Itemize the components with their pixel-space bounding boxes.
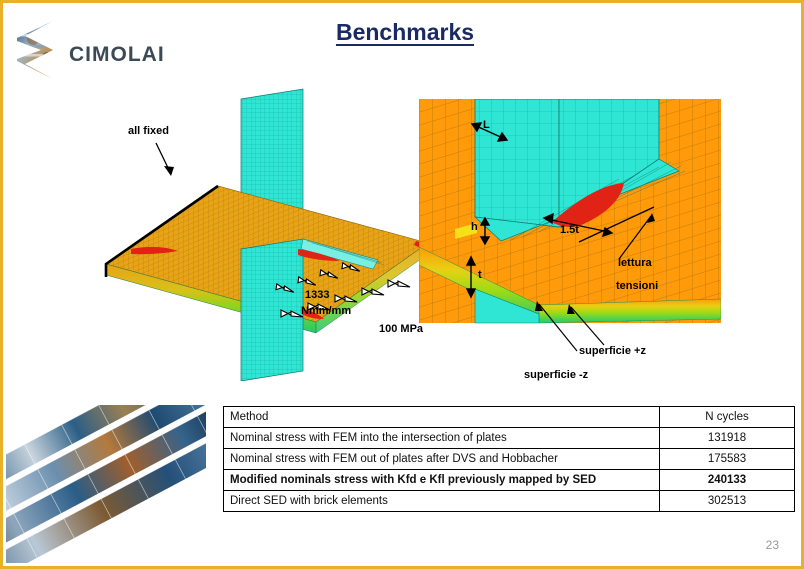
cell-method: Nominal stress with FEM out of plates af…: [224, 449, 660, 470]
label-moment-value: 1333: [305, 289, 329, 303]
table-row: Modified nominals stress with Kfd e Kfl …: [224, 470, 795, 491]
label-lettura: lettura: [618, 257, 652, 271]
logo-wordmark: CIMOLAI: [69, 43, 165, 67]
table-row: Direct SED with brick elements 302513: [224, 491, 795, 512]
benchmark-results-table: Method N cycles Nominal stress with FEM …: [223, 406, 795, 512]
table-row: Nominal stress with FEM out of plates af…: [224, 449, 795, 470]
label-moment-unit: Nmm/mm: [301, 305, 351, 319]
figure-weld-toe-detail: L h t 1.5t lettura tensioni superficie +…: [419, 99, 721, 355]
cell-cycles: 131918: [660, 428, 795, 449]
label-superficie-plus-z: superficie +z: [579, 345, 646, 359]
label-L: L: [483, 119, 490, 133]
vertical-plate-lower: [241, 239, 303, 381]
cell-method: Nominal stress with FEM into the interse…: [224, 428, 660, 449]
label-t: t: [478, 269, 482, 283]
label-h: h: [471, 221, 478, 235]
label-1-5t: 1.5t: [560, 224, 579, 238]
figure-t-joint-fem-model: all fixed 1333 Nmm/mm 100 MPa: [98, 81, 428, 381]
cell-cycles: 240133: [660, 470, 795, 491]
header-n-cycles: N cycles: [660, 407, 795, 428]
page-title: Benchmarks: [3, 19, 804, 46]
label-superficie-minus-z: superficie -z: [524, 369, 588, 383]
cell-method: Modified nominals stress with Kfd e Kfl …: [224, 470, 660, 491]
cell-cycles: 175583: [660, 449, 795, 470]
label-all-fixed: all fixed: [128, 125, 169, 139]
table-row: Nominal stress with FEM into the interse…: [224, 428, 795, 449]
cell-method: Direct SED with brick elements: [224, 491, 660, 512]
table-header-row: Method N cycles: [224, 407, 795, 428]
arrowhead-all-fixed: [164, 166, 174, 176]
slide-canvas: CIMOLAI Benchmarks: [0, 0, 804, 569]
header-method: Method: [224, 407, 660, 428]
label-pressure-value: 100 MPa: [379, 323, 423, 337]
cell-cycles: 302513: [660, 491, 795, 512]
page-number: 23: [766, 538, 779, 552]
photo-strip-decoration: [6, 405, 206, 563]
label-tensioni: tensioni: [616, 280, 658, 294]
